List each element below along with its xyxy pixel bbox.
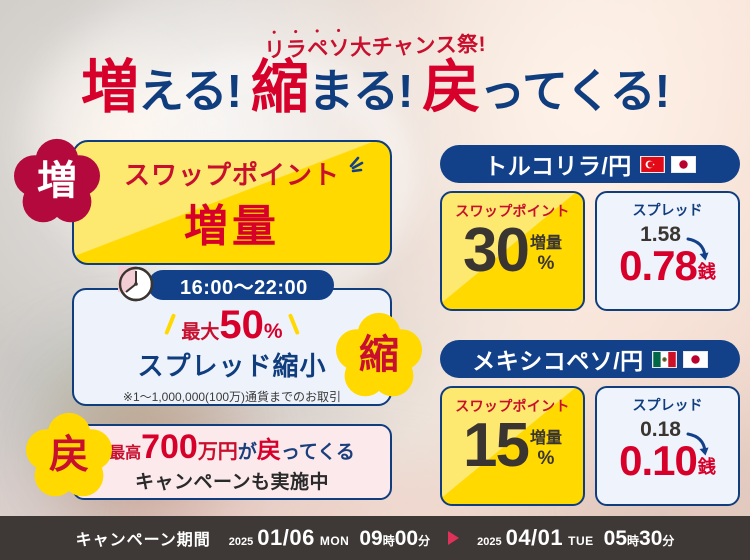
spread-max-line: 最大 50 % [167,305,296,345]
cashback-headline: 最高 700 万円 が 戻 ってくる [109,430,355,465]
badge-modori-label: 戻 [49,435,89,475]
cashback-prefix: 最高 [109,439,141,463]
cashback-return-kanji: 戻 [257,430,281,465]
promo-banner: リラペソ大チャンス祭! 増える!縮まる!戻ってくる! スワップポイント 増量 [0,0,750,560]
currency-pair-card-1: メキシコペソ/円 [440,340,740,506]
pair-body-1: スワップポイント 15 増量 % スプレッド 0.18 0.10 [440,386,740,506]
pair-spread-title-1: スプレッド [633,395,703,415]
campaign-start-dow: MON [320,534,350,548]
spread-max-value: 50 [219,305,264,345]
badge-zou: 増 [14,138,100,224]
pair-flags-0 [640,156,696,173]
campaign-start-minute: 00 [395,527,418,551]
campaign-start: 2025 01/06 MON 09 時 00 分 [229,525,430,551]
campaign-end-year: 2025 [477,536,501,548]
page-title: 増える!縮まる!戻ってくる! [0,58,750,119]
pair-spread-card-0: スプレッド 1.58 0.78 銭 [595,191,740,311]
cashback-particle: が [238,437,257,464]
title-part-6: ってくる! [479,65,669,117]
badge-shuku: 縮 [336,312,422,398]
pair-body-0: スワップポイント 30 増量 % スプレッド 1.58 0.78 [440,191,740,311]
campaign-period-label: キャンペーン期間 [76,526,211,550]
swap-point-card: スワップポイント 増量 [72,140,392,265]
time-range-label: 16:00〜22:00 [180,271,308,300]
mexico-flag-icon [652,351,677,368]
pair-spread-title-0: スプレッド [633,200,703,220]
campaign-end-date: 04/01 [506,525,564,551]
title-part-4: まる! [308,65,412,117]
pair-swap-increase-label-0: 増量 [530,236,562,252]
time-range-pill: 16:00〜22:00 [148,270,334,300]
pair-name-0: トルコリラ/円 [484,147,631,181]
badge-zou-label: 増 [37,161,77,201]
campaign-start-year: 2025 [229,536,253,548]
pair-swap-card-1: スワップポイント 15 増量 % [440,386,585,506]
pair-flags-1 [652,351,708,368]
clock-icon [118,266,154,302]
campaign-end-hour: 05 [604,527,627,551]
campaign-end: 2025 04/01 TUE 05 時 30 分 [477,525,674,551]
swap-point-card-value: 増量 [184,190,280,254]
title-part-2: える! [138,65,241,117]
pair-swap-value-1: 15 [463,417,528,475]
japan-flag-icon [683,351,708,368]
pair-spread-card-1: スプレッド 0.18 0.10 銭 [595,386,740,506]
pair-swap-value-0: 30 [463,222,528,280]
campaign-period-bar: キャンペーン期間 2025 01/06 MON 09 時 00 分 2025 0… [0,516,750,560]
spread-max-label: 最大 [181,317,219,344]
spread-note: ※1〜1,000,000(100万)通貨までのお取引 [123,388,341,405]
campaign-end-minute-unit: 分 [662,532,674,549]
campaign-end-hour-unit: 時 [627,532,639,549]
swap-point-card-title: スワップポイント [124,155,340,192]
campaign-end-minute: 30 [639,527,662,551]
pair-name-1: メキシコペソ/円 [472,342,643,376]
pair-swap-increase-label-1: 増量 [530,431,562,447]
cashback-return-tail: ってくる [281,437,355,464]
cashback-subline: キャンペーンも実施中 [135,467,329,494]
campaign-end-dow: TUE [568,534,594,548]
curved-arrow-icon-1 [686,432,710,458]
pair-header-0: トルコリラ/円 [440,145,740,183]
accent-slash-left-icon [165,313,177,335]
cashback-card: 最高 700 万円 が 戻 ってくる キャンペーンも実施中 [72,424,392,500]
pair-swap-card-0: スワップポイント 30 増量 % [440,191,585,311]
title-part-1: 増 [81,55,138,120]
badge-modori: 戻 [26,412,112,498]
campaign-start-minute-unit: 分 [418,532,430,549]
title-part-3: 縮 [251,55,308,120]
accent-slash-right-icon [287,313,299,335]
sparkle-icon [338,156,364,182]
japan-flag-icon [671,156,696,173]
curved-arrow-icon-0 [686,237,710,263]
cashback-amount: 700 [141,430,198,464]
spread-subtitle: スプレッド縮小 [137,346,326,383]
turkey-flag-icon [640,156,665,173]
pair-swap-unit-0: % [538,254,555,275]
campaign-start-hour: 09 [359,527,382,551]
campaign-start-hour-unit: 時 [383,532,395,549]
pair-header-1: メキシコペソ/円 [440,340,740,378]
play-triangle-icon [448,531,459,545]
spread-max-unit: % [264,320,283,344]
campaign-start-date: 01/06 [257,525,315,551]
badge-shuku-label: 縮 [359,335,399,375]
currency-pair-card-0: トルコリラ/円 [440,145,740,311]
cashback-amount-unit: 万円 [198,435,238,464]
pair-swap-unit-1: % [538,449,555,470]
title-part-5: 戻 [422,55,479,120]
